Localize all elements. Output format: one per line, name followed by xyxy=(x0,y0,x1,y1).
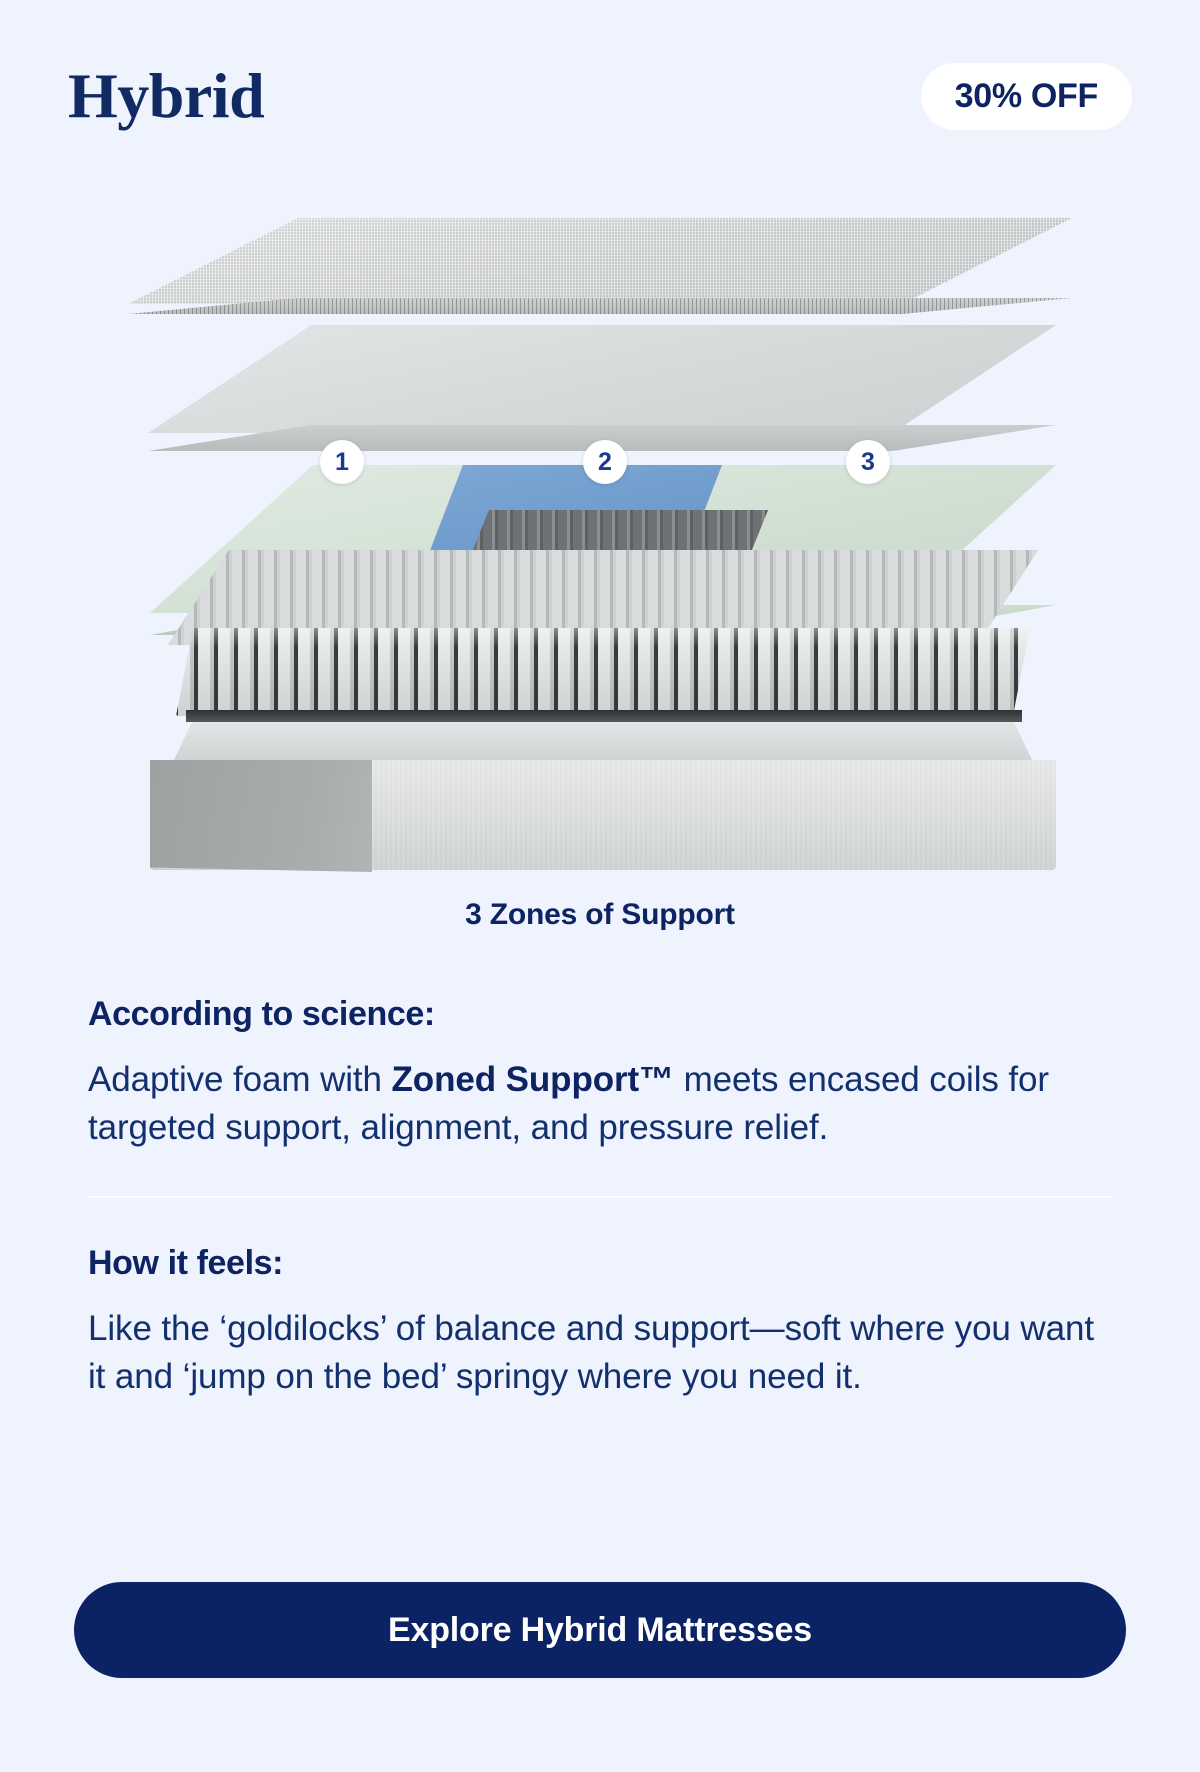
zone-marker-3: 3 xyxy=(846,440,890,484)
mattress-exploded-diagram: 1 2 3 xyxy=(0,190,1200,870)
figure-caption: 3 Zones of Support xyxy=(0,898,1200,932)
brand-logo: Hybrid xyxy=(68,64,264,128)
page-header: Hybrid 30% OFF xyxy=(0,56,1200,136)
section-heading-feels: How it feels: xyxy=(88,1244,1112,1283)
encased-coil-layer xyxy=(168,510,1038,710)
zoned-support-trademark: Zoned Support™ xyxy=(392,1060,674,1099)
base-side-panel xyxy=(150,760,372,872)
promo-discount-badge: 30% OFF xyxy=(921,63,1132,130)
cta-container: Explore Hybrid Mattresses xyxy=(74,1582,1126,1678)
coil-front-row xyxy=(176,628,1030,716)
zone-marker-2: 2 xyxy=(583,440,627,484)
section-divider xyxy=(88,1196,1112,1198)
knit-cover-surface xyxy=(128,218,1072,304)
content-sections: According to science: Adaptive foam with… xyxy=(88,995,1112,1401)
section-according-to-science: According to science: Adaptive foam with… xyxy=(88,995,1112,1152)
explore-hybrid-mattresses-button[interactable]: Explore Hybrid Mattresses xyxy=(74,1582,1126,1678)
section-body-feels: Like the ‘goldilocks’ of balance and sup… xyxy=(88,1305,1112,1401)
science-text-before: Adaptive foam with xyxy=(88,1060,392,1099)
coil-shadow-band xyxy=(186,710,1022,722)
foundation-base-layer xyxy=(150,710,1056,875)
knit-cover-layer xyxy=(128,218,1072,318)
section-heading-science: According to science: xyxy=(88,995,1112,1034)
zone-marker-1: 1 xyxy=(320,440,364,484)
section-how-it-feels: How it feels: Like the ‘goldilocks’ of b… xyxy=(88,1244,1112,1401)
section-body-science: Adaptive foam with Zoned Support™ meets … xyxy=(88,1056,1112,1152)
comfort-foam-surface xyxy=(148,325,1056,433)
comfort-foam-layer xyxy=(148,325,1056,455)
